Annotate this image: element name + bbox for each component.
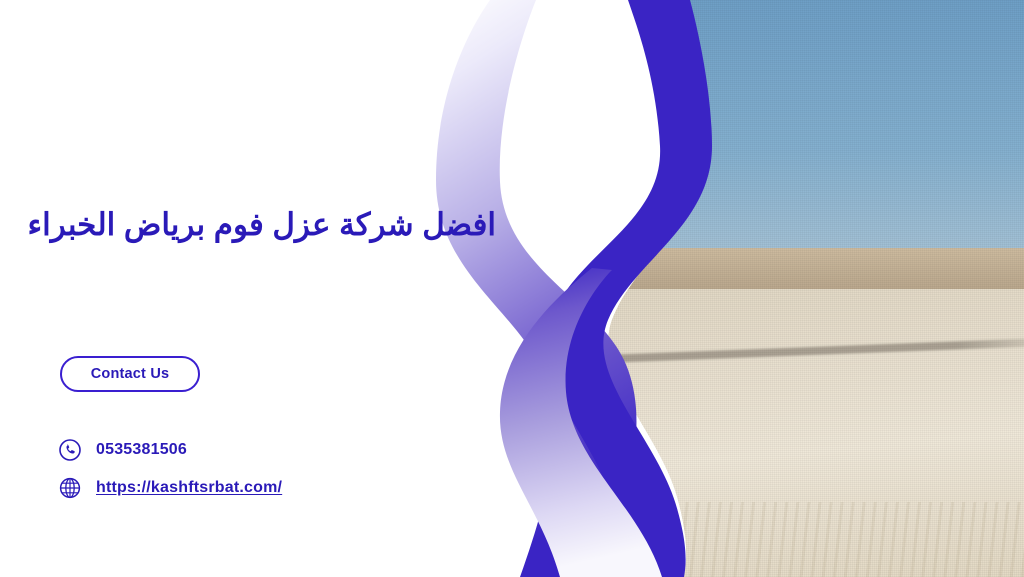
phone-icon bbox=[58, 438, 82, 462]
phone-number[interactable]: 0535381506 bbox=[96, 441, 187, 459]
promo-banner: افضل شركة عزل فوم برياض الخبراء Contact … bbox=[0, 0, 1024, 577]
contact-us-button[interactable]: Contact Us bbox=[60, 356, 200, 392]
globe-icon bbox=[58, 476, 82, 500]
contact-row-website[interactable]: https://kashftsrbat.com/ bbox=[58, 476, 282, 500]
content-column: افضل شركة عزل فوم برياض الخبراء Contact … bbox=[0, 0, 520, 577]
contact-list: 0535381506 https://kashftsrbat.com/ bbox=[58, 438, 282, 500]
page-title: افضل شركة عزل فوم برياض الخبراء bbox=[26, 206, 496, 245]
website-url[interactable]: https://kashftsrbat.com/ bbox=[96, 479, 282, 497]
contact-row-phone[interactable]: 0535381506 bbox=[58, 438, 282, 462]
